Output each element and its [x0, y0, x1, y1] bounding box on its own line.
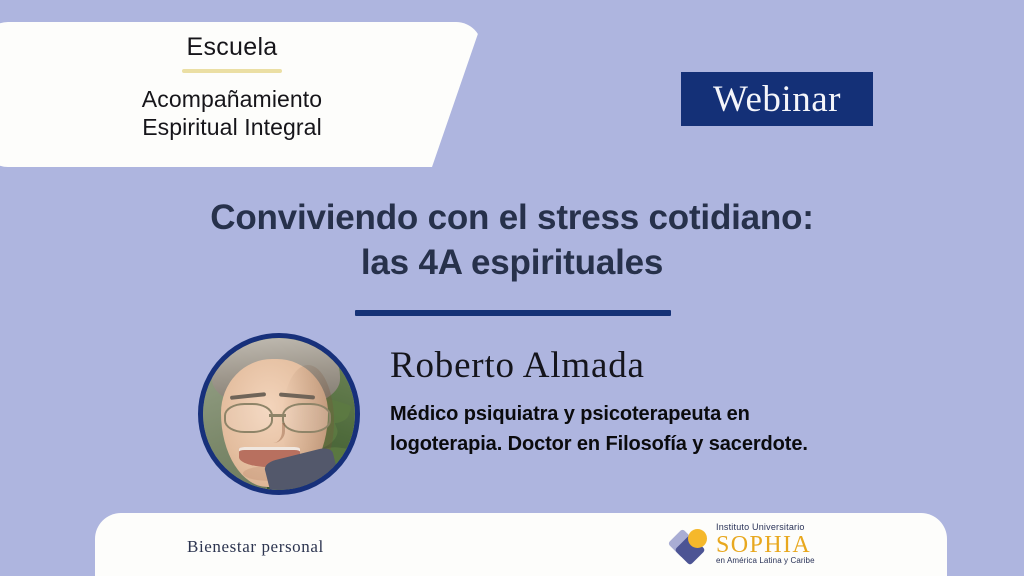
speaker-photo-illustration	[203, 338, 355, 490]
program-line-2: Espiritual Integral	[142, 113, 322, 141]
title-line-1: Conviviendo con el stress cotidiano:	[0, 196, 1024, 241]
speaker-avatar	[198, 333, 360, 495]
title-line-2: las 4A espirituales	[0, 241, 1024, 286]
page-title: Conviviendo con el stress cotidiano: las…	[0, 196, 1024, 286]
speaker-bio: Médico psiquiatra y psicoterapeuta en lo…	[390, 400, 820, 459]
sophia-logo-text: Instituto Universitario SOPHIA en Améric…	[716, 523, 832, 566]
logo-wordmark: SOPHIA	[716, 533, 832, 557]
sophia-logo-mark-icon	[672, 525, 712, 565]
title-underline-rule	[355, 310, 671, 316]
school-eyebrow: Escuela	[186, 34, 277, 62]
webinar-badge-label: Webinar	[713, 81, 841, 118]
webinar-badge: Webinar	[681, 72, 873, 126]
sophia-logo: Instituto Universitario SOPHIA en Améric…	[672, 523, 832, 567]
webinar-slide: Escuela Acompañamiento Espiritual Integr…	[0, 0, 1024, 576]
school-banner: Escuela Acompañamiento Espiritual Integr…	[0, 22, 482, 167]
program-name: Acompañamiento Espiritual Integral	[142, 85, 322, 141]
program-line-1: Acompañamiento	[142, 85, 322, 113]
speaker-name: Roberto Almada	[390, 347, 645, 384]
logo-line-bottom: en América Latina y Caribe	[716, 557, 832, 566]
school-divider	[182, 69, 282, 73]
footer-tagline: Bienestar personal	[187, 537, 324, 557]
